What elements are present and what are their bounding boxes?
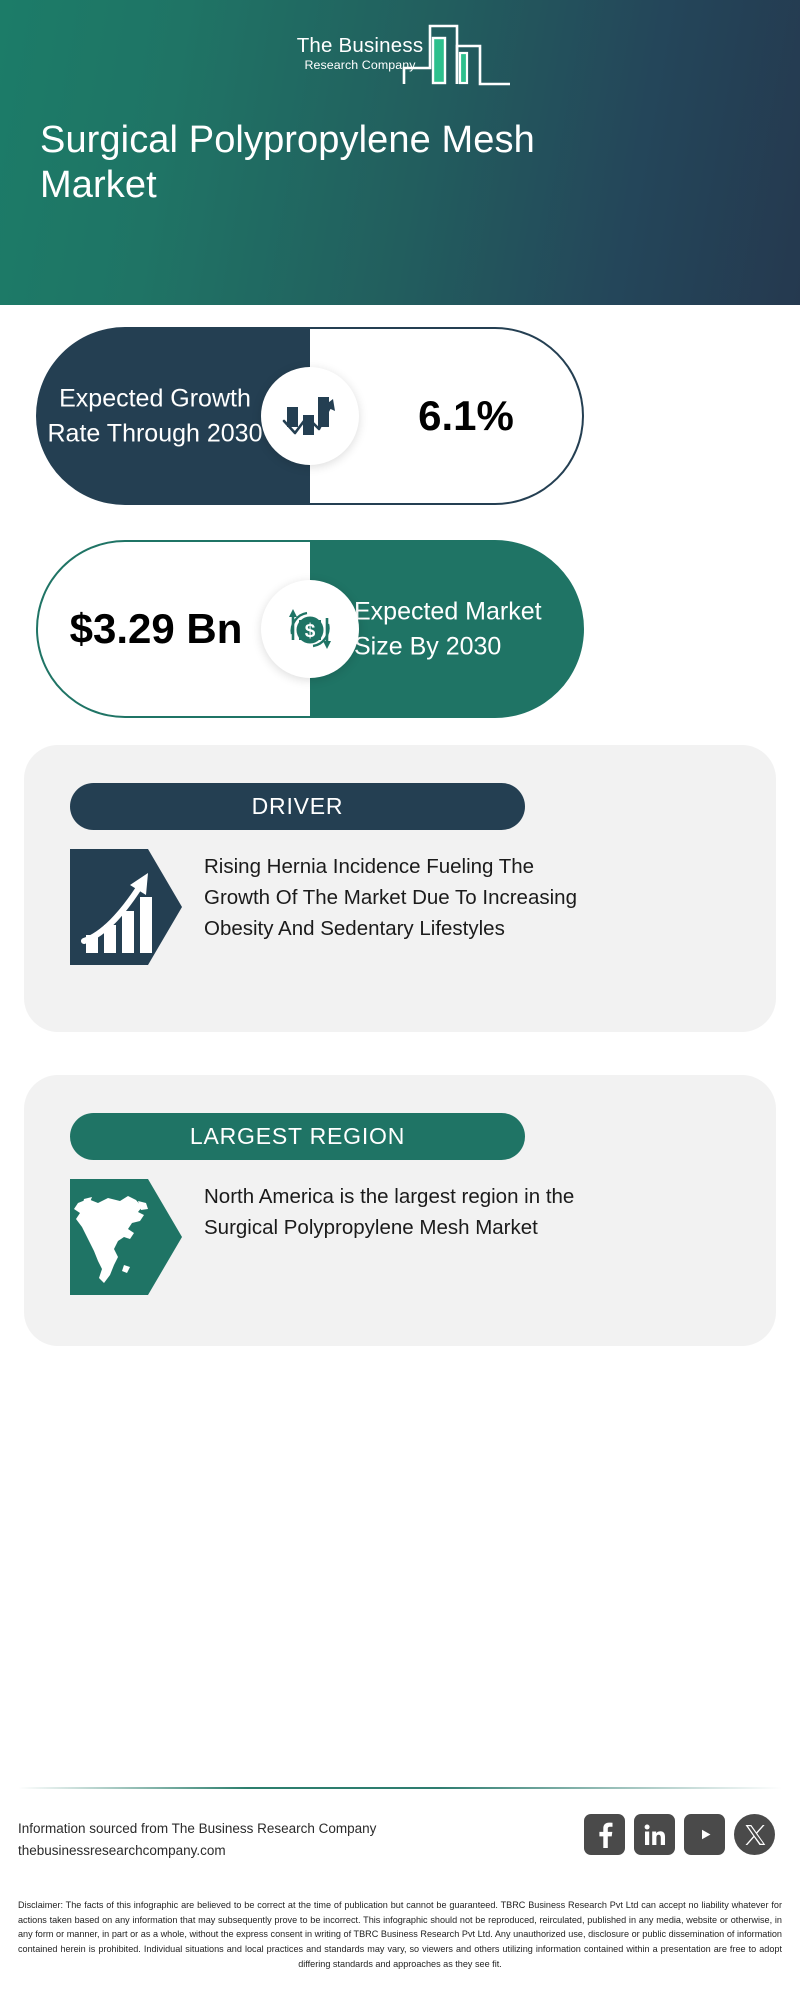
largest-region-icon-shield xyxy=(70,1179,182,1295)
largest-region-body: North America is the largest region in t… xyxy=(70,1179,736,1295)
footer-source: Information sourced from The Business Re… xyxy=(18,1818,376,1861)
market-size-icon-badge: $ xyxy=(261,580,359,678)
footer-source-line-1: Information sourced from The Business Re… xyxy=(18,1818,376,1840)
stat-card-market-size: $3.29 Bn Expected Market Size By 2030 $ xyxy=(36,540,584,718)
facebook-glyph xyxy=(595,1822,615,1848)
driver-body: Rising Hernia Incidence Fueling The Grow… xyxy=(70,849,736,965)
x-glyph xyxy=(744,1824,766,1846)
linkedin-icon[interactable] xyxy=(634,1814,675,1855)
footer-divider xyxy=(18,1787,782,1789)
stat-card-growth-rate: Expected Growth Rate Through 2030 6.1% xyxy=(36,327,584,505)
infographic-page: The Business Research Company Surgical P… xyxy=(0,0,800,2000)
disclaimer-text: Disclaimer: The facts of this infographi… xyxy=(18,1898,782,1972)
driver-pill-label: DRIVER xyxy=(70,783,525,830)
largest-region-text: North America is the largest region in t… xyxy=(204,1179,604,1243)
largest-region-pill-label: LARGEST REGION xyxy=(70,1113,525,1160)
youtube-glyph xyxy=(692,1825,718,1844)
facebook-icon[interactable] xyxy=(584,1814,625,1855)
north-america-map-shield-icon xyxy=(70,1179,182,1295)
youtube-icon[interactable] xyxy=(684,1814,725,1855)
growth-chart-arrow-icon xyxy=(281,389,339,443)
growth-bars-arrow-shield-icon xyxy=(70,849,182,965)
header-banner: The Business Research Company Surgical P… xyxy=(0,0,800,305)
driver-icon-shield xyxy=(70,849,182,965)
bar-chart-logo-mark xyxy=(402,20,522,88)
linkedin-glyph xyxy=(644,1824,666,1846)
driver-text: Rising Hernia Incidence Fueling The Grow… xyxy=(204,849,604,944)
x-twitter-icon[interactable] xyxy=(734,1814,775,1855)
company-logo: The Business Research Company xyxy=(0,20,800,90)
dollar-cycle-icon: $ xyxy=(280,600,340,658)
social-links xyxy=(584,1814,775,1855)
footer-website-link[interactable]: thebusinessresearchcompany.com xyxy=(18,1840,376,1862)
panel-driver: DRIVER Rising Hernia Incidence Fueling T… xyxy=(24,745,776,1032)
footer: Information sourced from The Business Re… xyxy=(18,1818,782,1880)
growth-rate-icon-badge xyxy=(261,367,359,465)
panel-largest-region: LARGEST REGION North America is the larg… xyxy=(24,1075,776,1346)
page-title: Surgical Polypropylene Mesh Market xyxy=(40,118,640,208)
svg-text:$: $ xyxy=(305,621,316,642)
